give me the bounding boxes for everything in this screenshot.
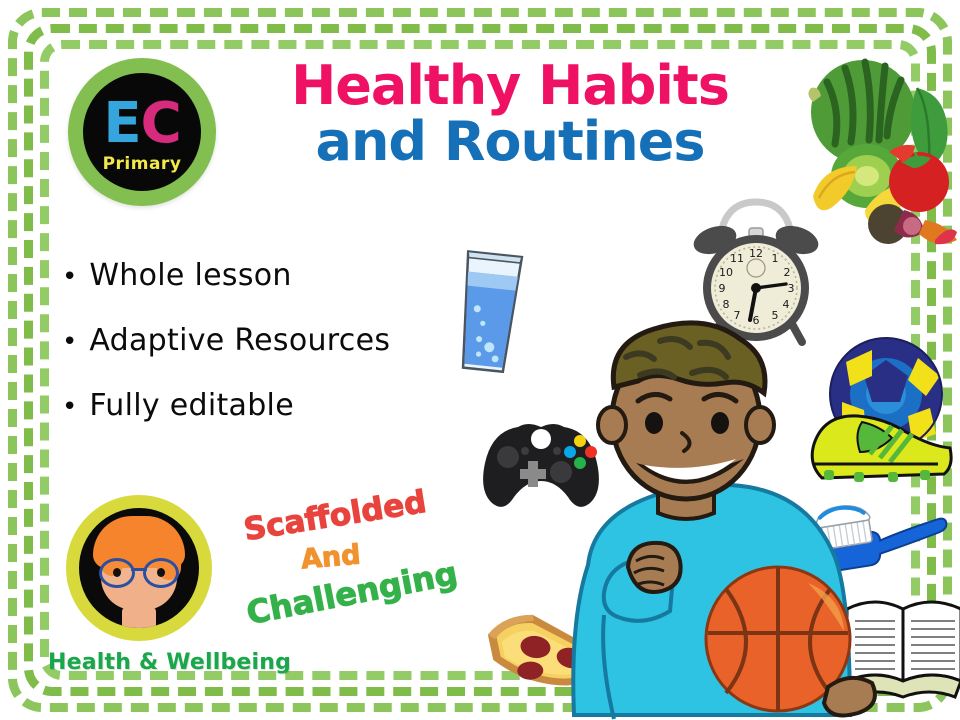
svg-text:10: 10 — [719, 266, 733, 279]
svg-text:1: 1 — [772, 252, 779, 265]
subject-label: Health & Wellbeing — [48, 650, 291, 675]
ec-primary-logo: EC Primary — [68, 58, 216, 206]
list-item-label: Whole lesson — [89, 258, 291, 293]
page-title-line-2: and Routines — [250, 114, 770, 170]
svg-text:9: 9 — [719, 282, 726, 295]
list-item-label: Adaptive Resources — [89, 323, 390, 358]
boy-with-basketball-illustration — [560, 315, 890, 720]
svg-text:8: 8 — [723, 298, 730, 311]
page-title-line-1: Healthy Habits — [250, 58, 770, 114]
ec-logo-disc: EC Primary — [83, 73, 201, 191]
svg-text:2: 2 — [784, 266, 791, 279]
avatar-eye-left — [113, 568, 121, 577]
scaffolded-challenging-stamp: Scaffolded And Challenging — [243, 498, 473, 628]
svg-text:4: 4 — [783, 298, 790, 311]
avatar-eye-right — [157, 568, 165, 577]
avatar-neck — [122, 606, 156, 628]
svg-text:3: 3 — [788, 282, 795, 295]
avatar-lens-left — [99, 558, 135, 588]
bullet-icon: • — [62, 394, 77, 420]
ec-logo-letters: EC — [103, 96, 180, 152]
bullet-icon: • — [62, 329, 77, 355]
list-item: • Adaptive Resources — [62, 323, 482, 358]
glass-of-water-icon — [446, 244, 533, 379]
svg-text:12: 12 — [749, 247, 763, 260]
fruit-and-vegetables-icon — [805, 48, 957, 248]
avatar-glasses-bridge — [131, 568, 147, 571]
ec-logo-subtitle: Primary — [103, 154, 182, 174]
health-wellbeing-avatar — [66, 495, 212, 641]
avatar-lens-right — [143, 558, 179, 588]
avatar-glasses-icon — [99, 558, 179, 582]
page-title: Healthy Habits and Routines — [250, 58, 770, 170]
ec-logo-letter-e: E — [103, 91, 140, 156]
list-item-label: Fully editable — [89, 388, 294, 423]
feature-list: • Whole lesson • Adaptive Resources • Fu… — [62, 258, 482, 453]
bullet-icon: • — [62, 264, 77, 290]
avatar-disc — [79, 508, 199, 628]
poster-canvas: EC Primary Healthy Habits and Routines •… — [0, 0, 960, 720]
stamp-line-and: And — [300, 539, 362, 575]
list-item: • Whole lesson — [62, 258, 482, 293]
ec-logo-letter-c: C — [141, 91, 181, 156]
list-item: • Fully editable — [62, 388, 482, 423]
svg-text:11: 11 — [730, 252, 744, 265]
